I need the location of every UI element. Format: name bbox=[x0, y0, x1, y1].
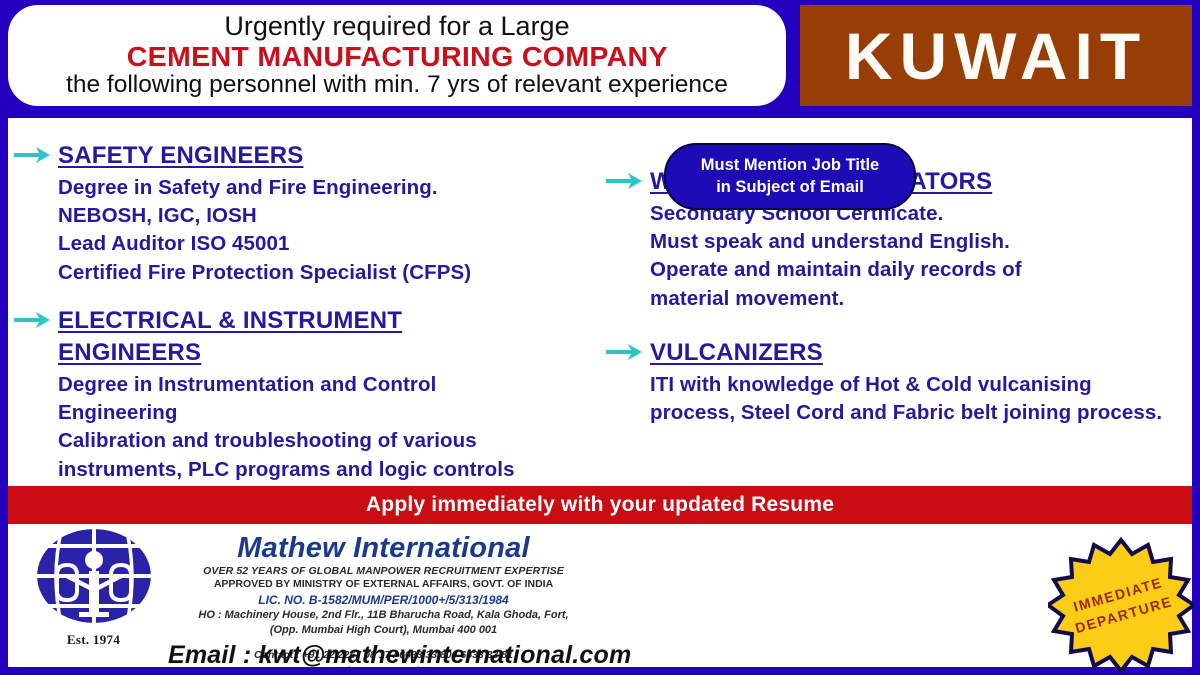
job-detail: Calibration and troubleshooting of vario… bbox=[58, 427, 578, 484]
job-column-left: SAFETY ENGINEERS Degree in Safety and Fi… bbox=[12, 118, 592, 488]
job-entry-electrical-instrument-engineers: ELECTRICAL & INSTRUMENT ENGINEERS Degree… bbox=[12, 305, 592, 484]
arrow-bullet-icon bbox=[606, 341, 646, 363]
job-title: ELECTRICAL & INSTRUMENT ENGINEERS bbox=[58, 305, 488, 369]
logo-established-year: Est. 1974 bbox=[26, 632, 161, 648]
header-line-1: Urgently required for a Large bbox=[224, 12, 569, 40]
company-tagline-2: APPROVED BY MINISTRY OF EXTERNAL AFFAIRS… bbox=[186, 578, 581, 591]
poster-header: Urgently required for a Large CEMENT MAN… bbox=[0, 0, 1200, 112]
job-detail: Lead Auditor ISO 45001 bbox=[58, 230, 592, 258]
country-label: KUWAIT bbox=[845, 23, 1147, 89]
mention-line-1: Must Mention Job Title bbox=[701, 155, 879, 177]
apply-banner: Apply immediately with your updated Resu… bbox=[8, 486, 1192, 524]
header-title-panel: Urgently required for a Large CEMENT MAN… bbox=[8, 5, 786, 106]
immediate-departure-badge: IMMEDIATE DEPARTURE bbox=[1048, 537, 1194, 673]
job-entry-safety-engineers: SAFETY ENGINEERS Degree in Safety and Fi… bbox=[12, 140, 592, 287]
company-name: Mathew International bbox=[186, 534, 581, 563]
company-license-number: LIC. NO. B-1582/MUM/PER/1000+/5/313/1984 bbox=[186, 592, 581, 608]
job-listings: SAFETY ENGINEERS Degree in Safety and Fi… bbox=[8, 118, 1192, 485]
arrow-bullet-icon bbox=[14, 144, 54, 166]
header-line-3: the following personnel with min. 7 yrs … bbox=[66, 72, 728, 99]
arrow-bullet-icon bbox=[606, 170, 646, 192]
job-advertisement-poster: Urgently required for a Large CEMENT MAN… bbox=[0, 0, 1200, 675]
company-tagline-1: OVER 52 YEARS OF GLOBAL MANPOWER RECRUIT… bbox=[186, 565, 581, 578]
company-logo-block: Est. 1974 bbox=[26, 528, 161, 648]
must-mention-job-title-box: Must Mention Job Title in Subject of Ema… bbox=[664, 143, 916, 210]
company-email[interactable]: Email : kwt@mathewinternational.com bbox=[168, 641, 631, 667]
mention-line-2: in Subject of Email bbox=[716, 177, 864, 199]
poster-footer: Est. 1974 Mathew International OVER 52 Y… bbox=[8, 524, 1192, 667]
job-detail: Degree in Instrumentation and Control En… bbox=[58, 371, 513, 428]
job-detail: Must speak and understand English. bbox=[650, 228, 1184, 256]
apply-banner-text: Apply immediately with your updated Resu… bbox=[366, 493, 834, 517]
header-company-type: CEMENT MANUFACTURING COMPANY bbox=[126, 41, 667, 72]
company-address-line-1: HO : Machinery House, 2nd Flr., 11B Bhar… bbox=[186, 608, 581, 623]
job-detail: ITI with knowledge of Hot & Cold vulcani… bbox=[650, 371, 1170, 428]
country-banner: KUWAIT bbox=[800, 5, 1192, 106]
job-detail: Operate and maintain daily records of ma… bbox=[650, 256, 1100, 313]
job-entry-vulcanizers: VULCANIZERS ITI with knowledge of Hot & … bbox=[604, 337, 1184, 427]
job-detail: Certified Fire Protection Specialist (CF… bbox=[58, 259, 592, 287]
arrow-bullet-icon bbox=[14, 309, 54, 331]
job-title: SAFETY ENGINEERS bbox=[58, 140, 592, 172]
job-title: VULCANIZERS bbox=[650, 337, 1184, 369]
company-address-line-2: (Opp. Mumbai High Court), Mumbai 400 001 bbox=[186, 623, 581, 638]
job-detail: Degree in Safety and Fire Engineering. bbox=[58, 174, 592, 202]
poster-body: SAFETY ENGINEERS Degree in Safety and Fi… bbox=[8, 118, 1192, 667]
job-detail: NEBOSH, IGC, IOSH bbox=[58, 202, 592, 230]
